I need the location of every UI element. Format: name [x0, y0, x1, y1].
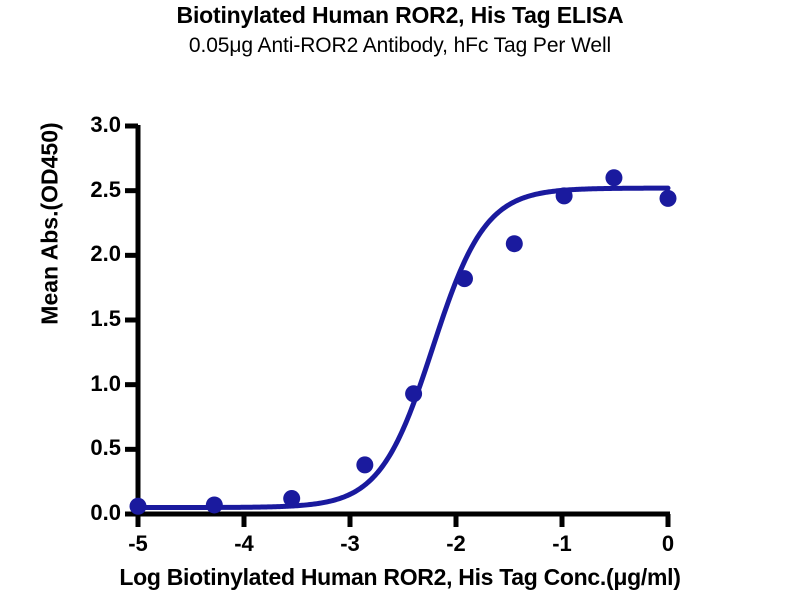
y-tick-label: 1.0 [51, 371, 121, 397]
x-tick-label: 0 [638, 531, 698, 557]
y-tick-label: 2.0 [51, 241, 121, 267]
x-tick-label: -4 [214, 531, 274, 557]
data-point [356, 456, 373, 473]
data-point-markers [130, 169, 677, 515]
fit-curve [138, 188, 668, 507]
data-point [405, 385, 422, 402]
x-tick-label: -2 [426, 531, 486, 557]
x-tick-label: -3 [320, 531, 380, 557]
y-tick-label: 0.0 [51, 500, 121, 526]
data-point [556, 187, 573, 204]
y-tick-label: 1.5 [51, 306, 121, 332]
data-point [605, 169, 622, 186]
data-point [206, 496, 223, 513]
x-tick-label: -1 [532, 531, 592, 557]
data-point [130, 498, 147, 515]
y-tick-label: 2.5 [51, 177, 121, 203]
data-point [456, 270, 473, 287]
data-point [283, 490, 300, 507]
axes [125, 125, 670, 527]
data-point [660, 190, 677, 207]
data-point [506, 235, 523, 252]
y-tick-label: 0.5 [51, 435, 121, 461]
elisa-chart-figure: Biotinylated Human ROR2, His Tag ELISA 0… [0, 0, 800, 600]
y-tick-label: 3.0 [51, 112, 121, 138]
x-tick-label: -5 [108, 531, 168, 557]
